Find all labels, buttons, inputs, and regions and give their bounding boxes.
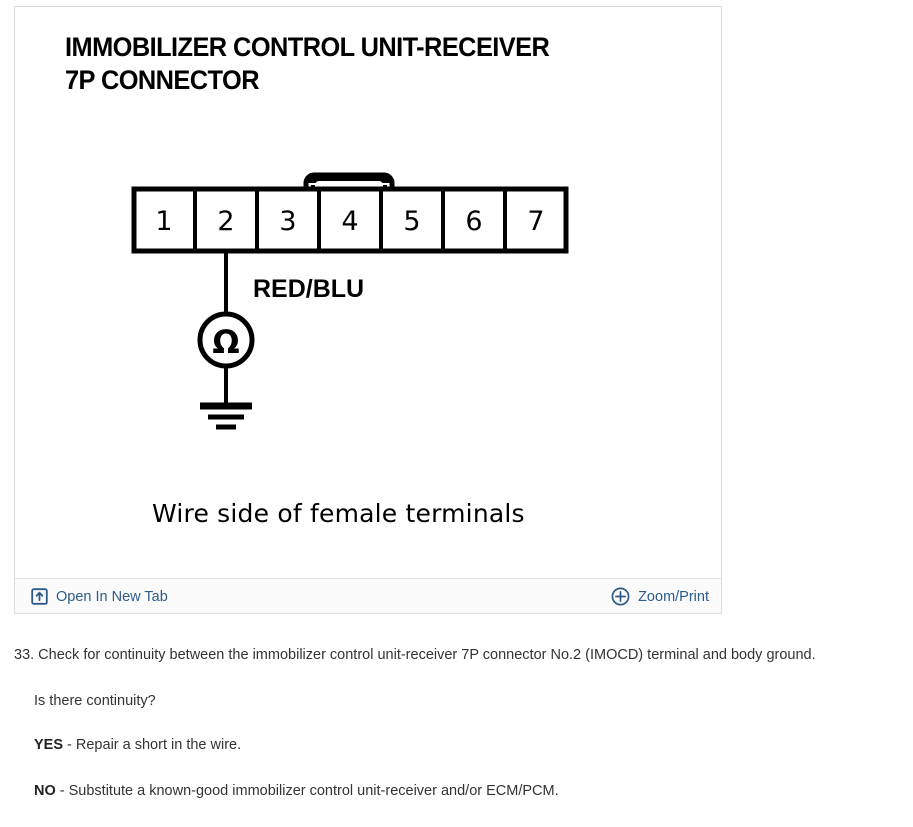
figure-image-area[interactable]: IMMOBILIZER CONTROL UNIT-RECEIVER 7P CON… <box>15 7 721 579</box>
answer-yes: YES - Repair a short in the wire. <box>34 735 899 755</box>
connector-schematic: 1 2 3 4 5 6 7 Ω <box>15 7 721 579</box>
step-instruction: 33. Check for continuity between the imm… <box>14 645 899 665</box>
figure-caption: Wire side of female terminals <box>152 499 525 528</box>
procedure-text: 33. Check for continuity between the imm… <box>14 645 899 827</box>
figure-card: IMMOBILIZER CONTROL UNIT-RECEIVER 7P CON… <box>14 6 722 614</box>
terminal-number-3: 3 <box>279 206 296 237</box>
open-in-new-tab-label: Open In New Tab <box>56 589 168 605</box>
answer-no: NO - Substitute a known-good immobilizer… <box>34 781 899 801</box>
plus-circle-icon <box>611 587 630 606</box>
figure-toolbar: Open In New Tab Zoom/Print <box>15 578 721 613</box>
terminal-number-4: 4 <box>341 206 358 237</box>
step-question: Is there continuity? <box>34 691 899 711</box>
zoom-print-label: Zoom/Print <box>638 589 709 605</box>
terminal-number-5: 5 <box>403 206 420 237</box>
terminal-number-7: 7 <box>527 206 544 237</box>
answer-yes-text: - Repair a short in the wire. <box>63 737 241 753</box>
open-in-new-tab-icon <box>31 588 48 605</box>
terminal-number-2: 2 <box>217 206 234 237</box>
ground-symbol <box>200 406 252 427</box>
answer-no-key: NO <box>34 783 56 799</box>
wire-color-label: RED/BLU <box>253 275 364 304</box>
open-in-new-tab-button[interactable]: Open In New Tab <box>31 579 168 614</box>
terminal-number-1: 1 <box>155 206 172 237</box>
answer-yes-key: YES <box>34 737 63 753</box>
ohmmeter-symbol: Ω <box>200 314 252 366</box>
terminal-number-6: 6 <box>465 206 482 237</box>
zoom-print-button[interactable]: Zoom/Print <box>611 579 709 614</box>
ohm-glyph: Ω <box>212 323 239 361</box>
answer-no-text: - Substitute a known-good immobilizer co… <box>56 783 559 799</box>
